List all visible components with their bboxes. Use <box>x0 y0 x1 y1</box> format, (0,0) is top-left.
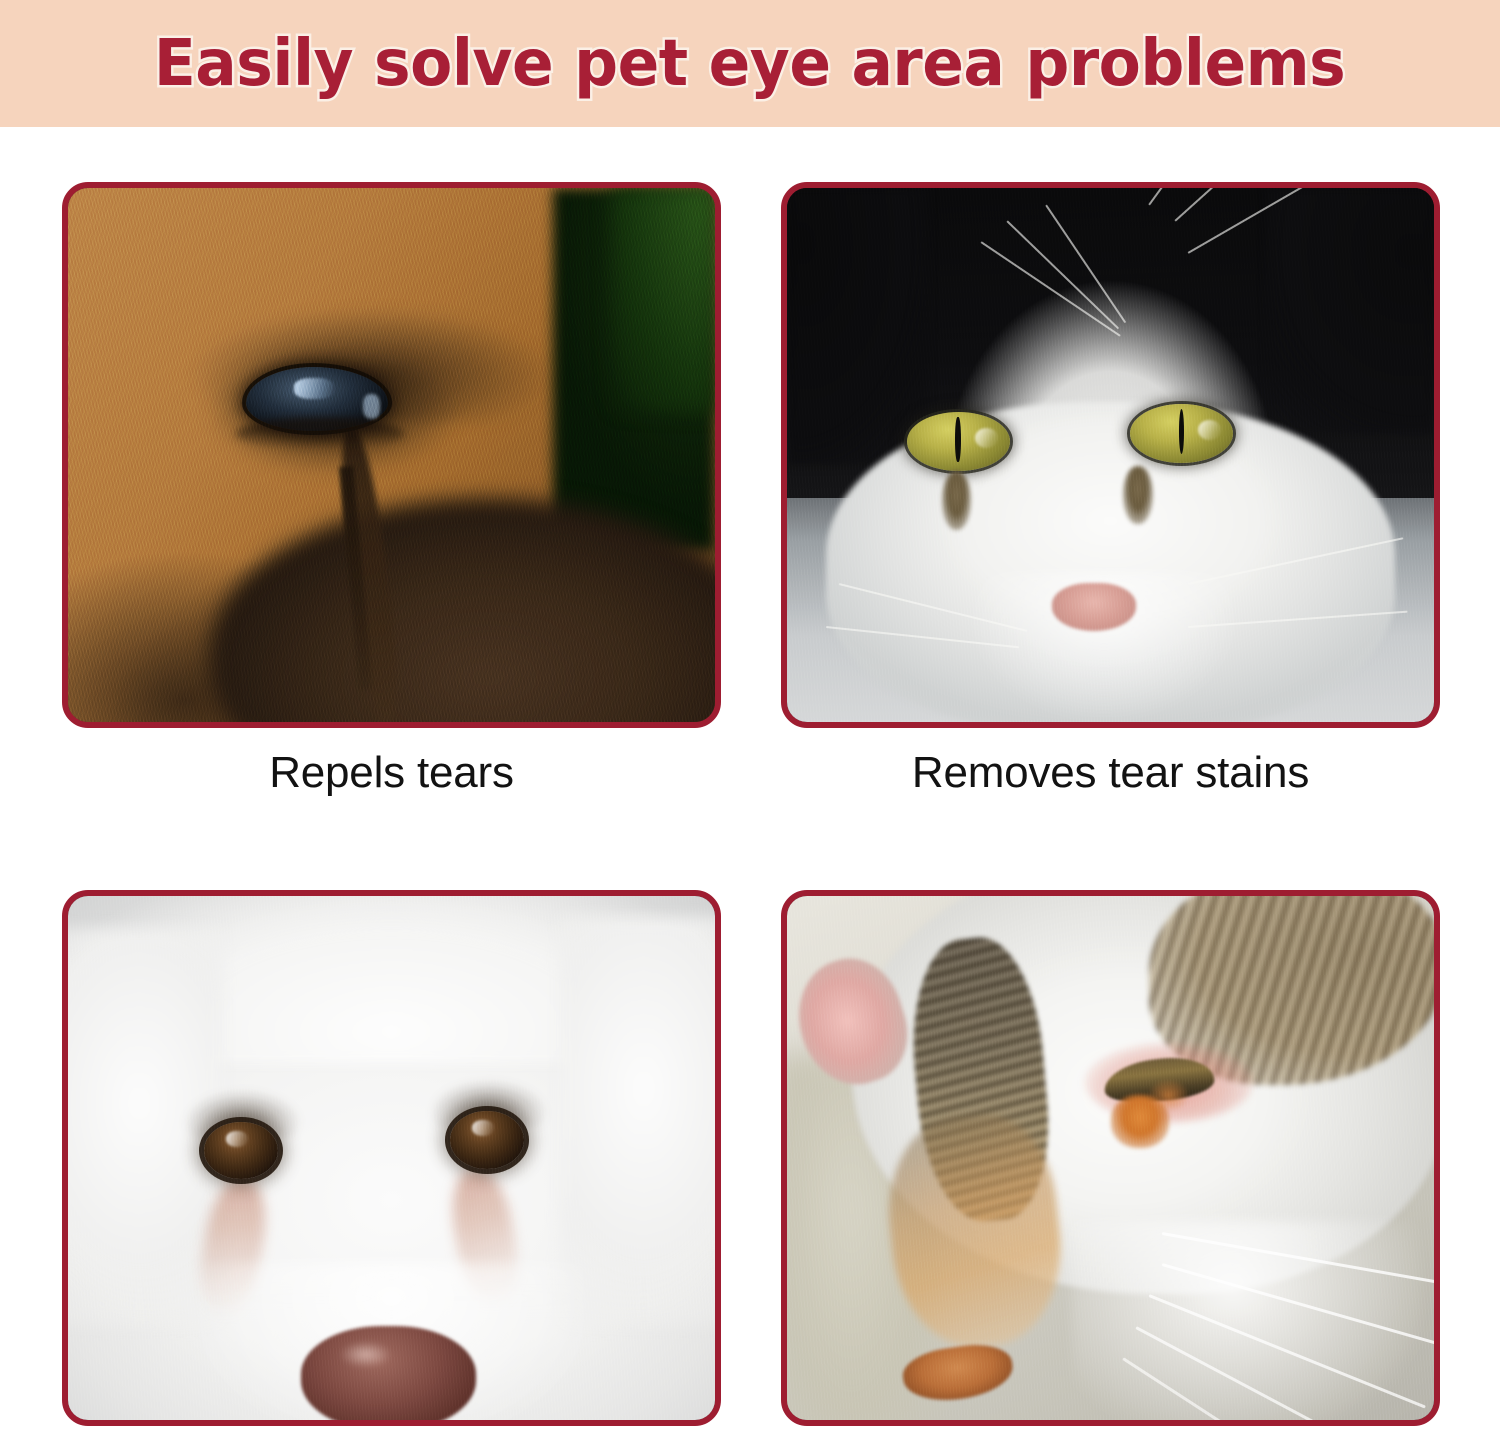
header-band: Easily solve pet eye area problems <box>0 0 1500 127</box>
photo-bw-cat-face <box>787 188 1434 722</box>
photo-white-dog-face <box>68 896 715 1420</box>
benefit-grid: Repels tears <box>62 182 1440 1435</box>
benefit-card-repels-tears: Repels tears <box>62 182 721 796</box>
infographic-page: Easily solve pet eye area problems <box>0 0 1500 1435</box>
photo-frame-tabby-cat <box>781 890 1440 1426</box>
photo-frame-bw-cat <box>781 182 1440 728</box>
benefit-caption: Removes tear stains <box>912 750 1309 796</box>
benefit-row-1: Repels tears <box>62 182 1440 796</box>
benefit-row-2: Prevents new tear stains <box>62 890 1440 1435</box>
benefit-card-removes-tear-stains: Removes tear stains <box>781 182 1440 796</box>
photo-brown-dog-eye <box>68 188 715 722</box>
photo-frame-white-dog <box>62 890 721 1426</box>
page-title: Easily solve pet eye area problems <box>154 32 1345 96</box>
photo-frame-brown-dog <box>62 182 721 728</box>
photo-tabby-cat-face <box>787 896 1434 1420</box>
benefit-card-promotes-pet-eye-health: Promotes pet eye health <box>781 890 1440 1435</box>
benefit-card-prevents-new-tear-stains: Prevents new tear stains <box>62 890 721 1435</box>
benefit-caption: Repels tears <box>269 750 514 796</box>
